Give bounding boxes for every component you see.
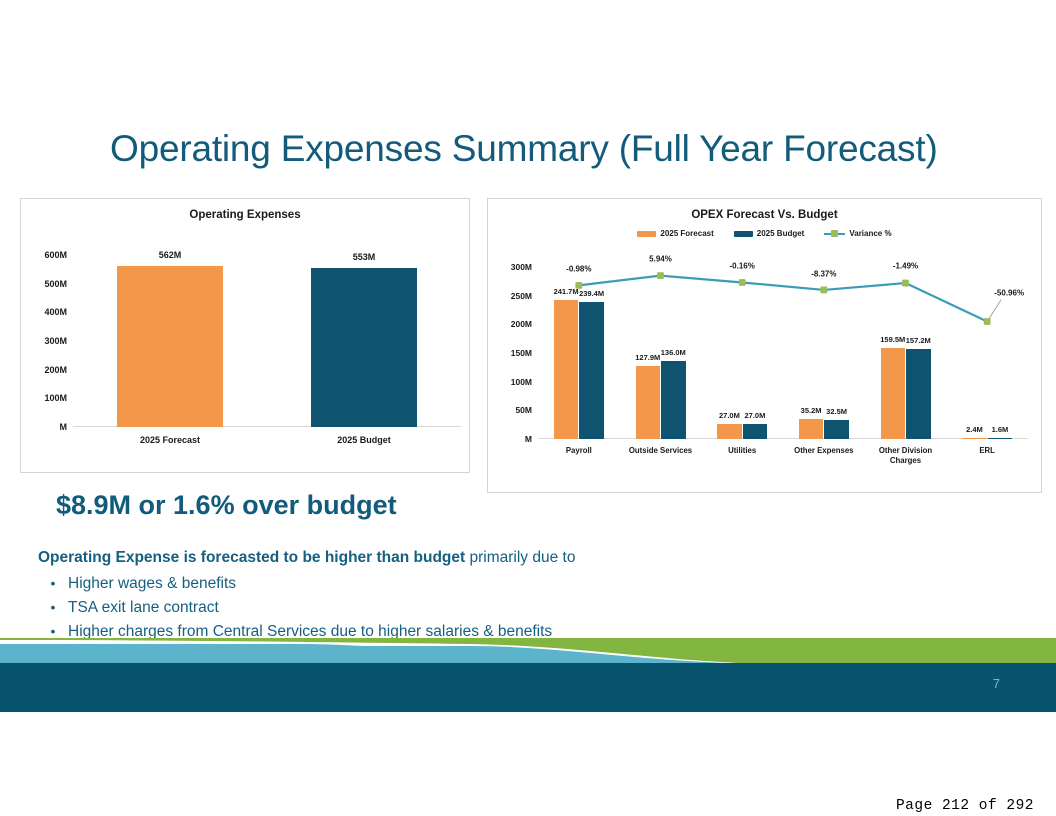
bar [988, 438, 1013, 440]
y-tick-label: 300M [44, 336, 67, 346]
chart-title-opex: OPEX Forecast Vs. Budget [488, 209, 1041, 221]
variance-marker [902, 280, 909, 287]
bar [311, 268, 418, 427]
bullet-text: TSA exit lane contract [68, 596, 219, 620]
y-tick-label: 250M [511, 291, 532, 301]
chart-legend: 2025 Forecast 2025 Budget Variance % [488, 229, 1041, 238]
legend-item-variance: Variance % [824, 229, 891, 238]
bar [579, 302, 604, 439]
x-axis-line [538, 438, 1028, 439]
variance-marker [739, 279, 746, 286]
headline-over-budget: $8.9M or 1.6% over budget [56, 490, 397, 521]
bar [743, 424, 768, 439]
bullet-dot-icon: • [38, 572, 68, 596]
bar-data-label: 127.9M [635, 353, 660, 362]
document-footer: Page 212 of 292 [0, 712, 1056, 816]
legend-item-forecast: 2025 Forecast [637, 229, 713, 238]
y-tick-label: M [525, 434, 532, 444]
y-tick-label: 150M [511, 348, 532, 358]
bar [881, 348, 906, 439]
y-tick-label: 500M [44, 279, 67, 289]
category-label: Other Division Charges [879, 446, 932, 465]
legend-swatch-budget [734, 231, 753, 237]
category-label: 2025 Budget [337, 435, 391, 446]
y-tick-label: 400M [44, 307, 67, 317]
variance-marker [820, 287, 827, 294]
variance-data-label: -1.49% [893, 262, 918, 271]
variance-line-series [538, 267, 1028, 439]
category-label: Utilities [728, 446, 756, 456]
bar [554, 300, 579, 439]
legend-label-variance: Variance % [849, 229, 891, 238]
bar [824, 420, 849, 439]
bar-data-label: 241.7M [554, 287, 579, 296]
y-tick-label: 300M [511, 262, 532, 272]
category-label: Payroll [566, 446, 592, 456]
body-copy: Operating Expense is forecasted to be hi… [38, 546, 838, 644]
bar-data-label: 2.4M [966, 425, 983, 434]
bar-data-label: 157.2M [906, 336, 931, 345]
y-tick-label: 100M [511, 377, 532, 387]
variance-data-label: -0.16% [729, 262, 754, 271]
bar-data-label: 32.5M [826, 407, 847, 416]
chart-opex-forecast-vs-budget: OPEX Forecast Vs. Budget 2025 Forecast 2… [487, 198, 1042, 493]
chart-title-operating-expenses: Operating Expenses [21, 209, 469, 221]
bar [906, 349, 931, 439]
bar [717, 424, 742, 439]
bar [661, 361, 686, 439]
variance-marker [657, 272, 664, 279]
bar [636, 366, 661, 439]
bar [962, 438, 987, 440]
y-tick-label: 50M [515, 405, 532, 415]
variance-data-label: -0.98% [566, 265, 591, 274]
bar-data-label: 562M [159, 250, 182, 260]
category-label: Outside Services [629, 446, 692, 456]
variance-label-leader-line [989, 299, 1001, 318]
bullet-dot-icon: • [38, 596, 68, 620]
legend-label-forecast: 2025 Forecast [660, 229, 713, 238]
variance-line-path [579, 276, 987, 322]
legend-swatch-forecast [637, 231, 656, 237]
bar-data-label: 553M [353, 252, 376, 262]
variance-data-label: -50.96% [994, 289, 1024, 298]
chart-operating-expenses: Operating Expenses M100M200M300M400M500M… [20, 198, 470, 473]
y-tick-label: M [60, 422, 68, 432]
bar-data-label: 27.0M [719, 411, 740, 420]
y-tick-label: 200M [44, 365, 67, 375]
slide-page-number: 7 [993, 676, 1000, 691]
bullet-text: Higher wages & benefits [68, 572, 236, 596]
footer-band [0, 663, 1056, 712]
variance-data-label: 5.94% [649, 254, 672, 263]
bullet-item: •Higher wages & benefits [38, 572, 838, 596]
category-label: ERL [979, 446, 995, 456]
category-label: Other Expenses [794, 446, 853, 456]
bar-data-label: 1.6M [992, 425, 1009, 434]
lead-strong: Operating Expense is forecasted to be hi… [38, 549, 465, 566]
plot-area-operating-expenses: M100M200M300M400M500M600M 562M2025 Forec… [73, 255, 461, 427]
y-tick-label: 100M [44, 393, 67, 403]
legend-item-budget: 2025 Budget [734, 229, 805, 238]
variance-data-label: -8.37% [811, 269, 836, 278]
bar-data-label: 159.5M [880, 335, 905, 344]
plot-area-opex: M50M100M150M200M250M300M 241.7M239.4MPay… [538, 267, 1028, 439]
legend-label-budget: 2025 Budget [757, 229, 805, 238]
category-label: 2025 Forecast [140, 435, 200, 446]
bullet-list: •Higher wages & benefits•TSA exit lane c… [38, 572, 838, 644]
bar [117, 266, 224, 427]
lead-rest: primarily due to [465, 549, 575, 566]
y-tick-label: 600M [44, 250, 67, 260]
variance-marker [984, 318, 991, 325]
y-tick-label: 200M [511, 319, 532, 329]
bar-data-label: 239.4M [579, 289, 604, 298]
bar-data-label: 136.0M [661, 348, 686, 357]
bar [799, 419, 824, 439]
page-title: Operating Expenses Summary (Full Year Fo… [110, 128, 970, 170]
bar-data-label: 35.2M [801, 406, 822, 415]
legend-line-marker-variance [824, 230, 845, 238]
slide-canvas: Operating Expenses Summary (Full Year Fo… [0, 0, 1056, 712]
bullet-item: •TSA exit lane contract [38, 596, 838, 620]
lead-paragraph: Operating Expense is forecasted to be hi… [38, 546, 838, 569]
page-counter: Page 212 of 292 [896, 798, 1034, 814]
bar-data-label: 27.0M [744, 411, 765, 420]
